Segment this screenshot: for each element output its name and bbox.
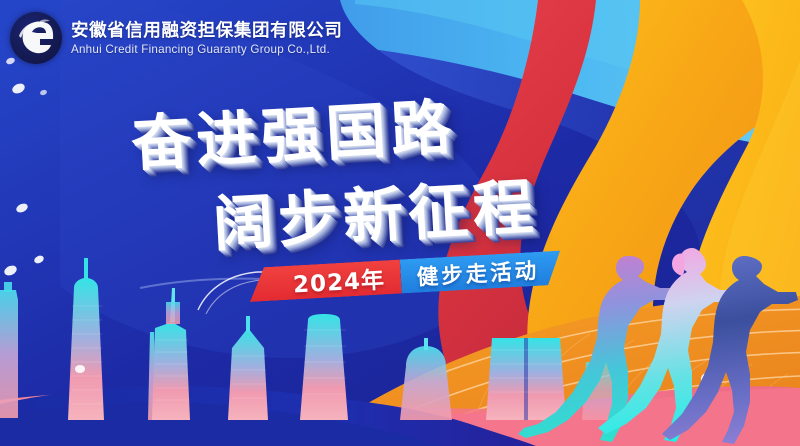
company-monogram-icon: [10, 12, 62, 64]
poster-canvas: 安徽省信用融资担保集团有限公司 Anhui Credit Financing G…: [0, 0, 800, 446]
brand-name-cn: 安徽省信用融资担保集团有限公司: [71, 22, 343, 40]
background-art: [0, 0, 800, 446]
brand-name-en: Anhui Credit Financing Guaranty Group Co…: [71, 44, 343, 56]
brand-lockup: 安徽省信用融资担保集团有限公司 Anhui Credit Financing G…: [10, 12, 343, 64]
